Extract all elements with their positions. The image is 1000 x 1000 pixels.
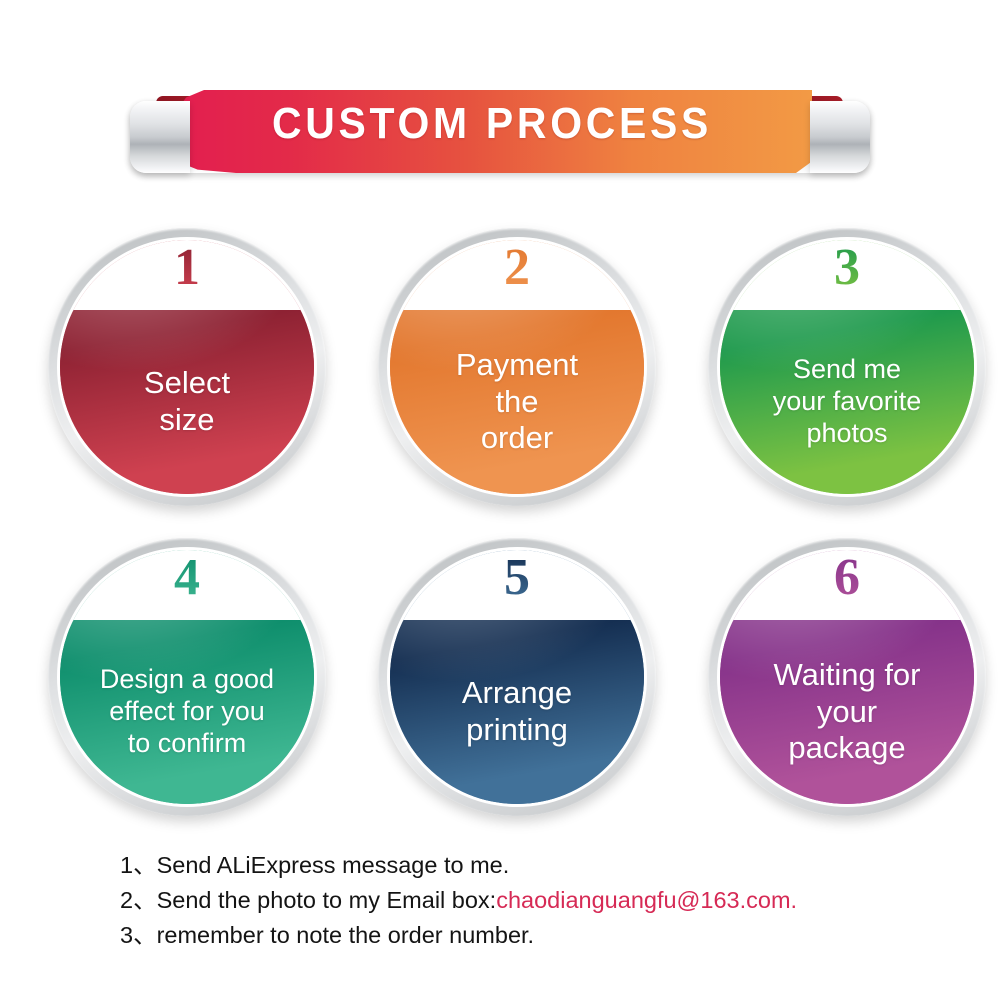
step-circle-6[interactable]: 6 Waiting foryourpackage	[708, 538, 986, 816]
step-disc: 4 Design a goodeffect for youto confirm	[60, 550, 314, 804]
contact-email[interactable]: chaodianguangfu@163.com.	[496, 887, 797, 913]
footer-instructions: 1、Send ALiExpress message to me. 2、Send …	[120, 848, 980, 953]
step-circle-5[interactable]: 5 Arrangeprinting	[378, 538, 656, 816]
step-label: Waiting foryourpackage	[735, 620, 959, 804]
step-number: 3	[720, 242, 974, 294]
step-number: 1	[60, 242, 314, 294]
roll-cap-right-icon	[810, 101, 870, 173]
step-circle-4[interactable]: 4 Design a goodeffect for youto confirm	[48, 538, 326, 816]
step-disc: 3 Send meyour favoritephotos	[720, 240, 974, 494]
footer-line-2-prefix: 2、Send the photo to my Email box:	[120, 887, 496, 913]
step-number: 5	[390, 552, 644, 604]
footer-line-1: 1、Send ALiExpress message to me.	[120, 848, 980, 883]
step-label: Design a goodeffect for youto confirm	[75, 620, 299, 804]
step-label: Paymenttheorder	[405, 310, 629, 494]
step-label: Arrangeprinting	[405, 620, 629, 804]
step-disc: 5 Arrangeprinting	[390, 550, 644, 804]
step-label: Selectsize	[75, 310, 299, 494]
step-number: 6	[720, 552, 974, 604]
step-disc: 2 Paymenttheorder	[390, 240, 644, 494]
footer-line-2: 2、Send the photo to my Email box:chaodia…	[120, 883, 980, 918]
step-number: 4	[60, 552, 314, 604]
step-circle-1[interactable]: 1 Selectsize	[48, 228, 326, 506]
step-disc: 1 Selectsize	[60, 240, 314, 494]
step-number: 2	[390, 242, 644, 294]
footer-line-3: 3、remember to note the order number.	[120, 918, 980, 953]
roll-cap-left-icon	[130, 101, 190, 173]
step-label: Send meyour favoritephotos	[735, 310, 959, 494]
page-title: CUSTOM PROCESS	[194, 99, 789, 149]
step-circle-3[interactable]: 3 Send meyour favoritephotos	[708, 228, 986, 506]
step-circle-2[interactable]: 2 Paymenttheorder	[378, 228, 656, 506]
step-disc: 6 Waiting foryourpackage	[720, 550, 974, 804]
banner-ribbon: CUSTOM PROCESS	[172, 90, 812, 173]
